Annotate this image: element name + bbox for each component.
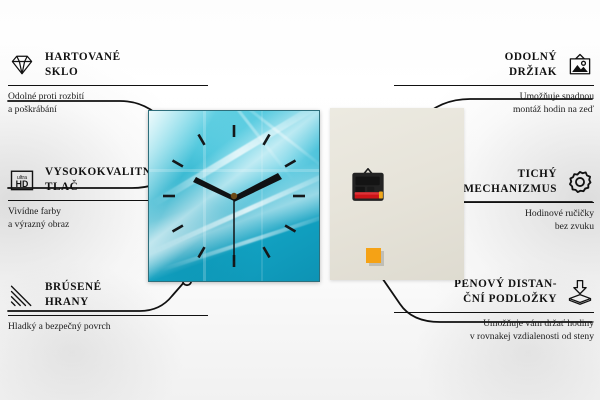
feature-wall-holder: ODOLNÝ DRŽIAK Umožňuje snadnou montáž ho… (384, 48, 594, 116)
clock-hour-hand (193, 177, 234, 201)
feature-header: BRÚSENÉ HRANY (8, 278, 218, 312)
divider (394, 312, 594, 313)
accessories-panel (330, 108, 464, 280)
feature-foam-spacers: PENOVÝ DISTAN- ČNÍ PODLOŽKY Umožňuje vám… (384, 275, 594, 343)
diamond-icon (8, 51, 36, 79)
clock-mechanism[interactable] (349, 168, 387, 204)
gear-icon (566, 168, 594, 196)
feature-tempered-glass: HARTOVANÉ SKLO Odolné proti rozbití a po… (8, 48, 218, 116)
clock-product-photo[interactable] (148, 110, 320, 282)
feature-header: ODOLNÝ DRŽIAK (384, 48, 594, 82)
foam-spacer-pad[interactable] (366, 248, 381, 263)
feature-title: PENOVÝ DISTAN- ČNÍ PODLOŽKY (454, 277, 557, 307)
feature-description: Hladký a bezpečný povrch (8, 319, 218, 333)
feature-header: HARTOVANÉ SKLO (8, 48, 218, 82)
feature-polished-edges: BRÚSENÉ HRANY Hladký a bezpečný povrch (8, 278, 218, 333)
feature-description: Umožňuje vám držať hodiny v rovnakej vzd… (384, 316, 594, 343)
divider (394, 85, 594, 86)
arrow-down-pad-icon (566, 278, 594, 306)
clock-minute-hand (234, 173, 282, 202)
divider (8, 315, 208, 316)
feature-title: VYSOKOKVALITNÝ TLAČ (45, 165, 160, 195)
product-infographic: HARTOVANÉ SKLO Odolné proti rozbití a po… (0, 0, 600, 400)
feature-title: BRÚSENÉ HRANY (45, 280, 102, 310)
ultra-hd-icon-bottom: HD (16, 179, 29, 189)
clock-center-cap (231, 193, 237, 199)
hatch-lines-icon (8, 281, 36, 309)
picture-frame-icon (566, 51, 594, 79)
ultra-hd-icon: ultra HD (8, 166, 36, 194)
feature-title: TICHÝ MECHANIZMUS (463, 167, 557, 197)
divider (8, 85, 208, 86)
feature-header: PENOVÝ DISTAN- ČNÍ PODLOŽKY (384, 275, 594, 309)
feature-title: HARTOVANÉ SKLO (45, 50, 121, 80)
feature-title: ODOLNÝ DRŽIAK (505, 50, 557, 80)
clock-face (149, 111, 319, 281)
